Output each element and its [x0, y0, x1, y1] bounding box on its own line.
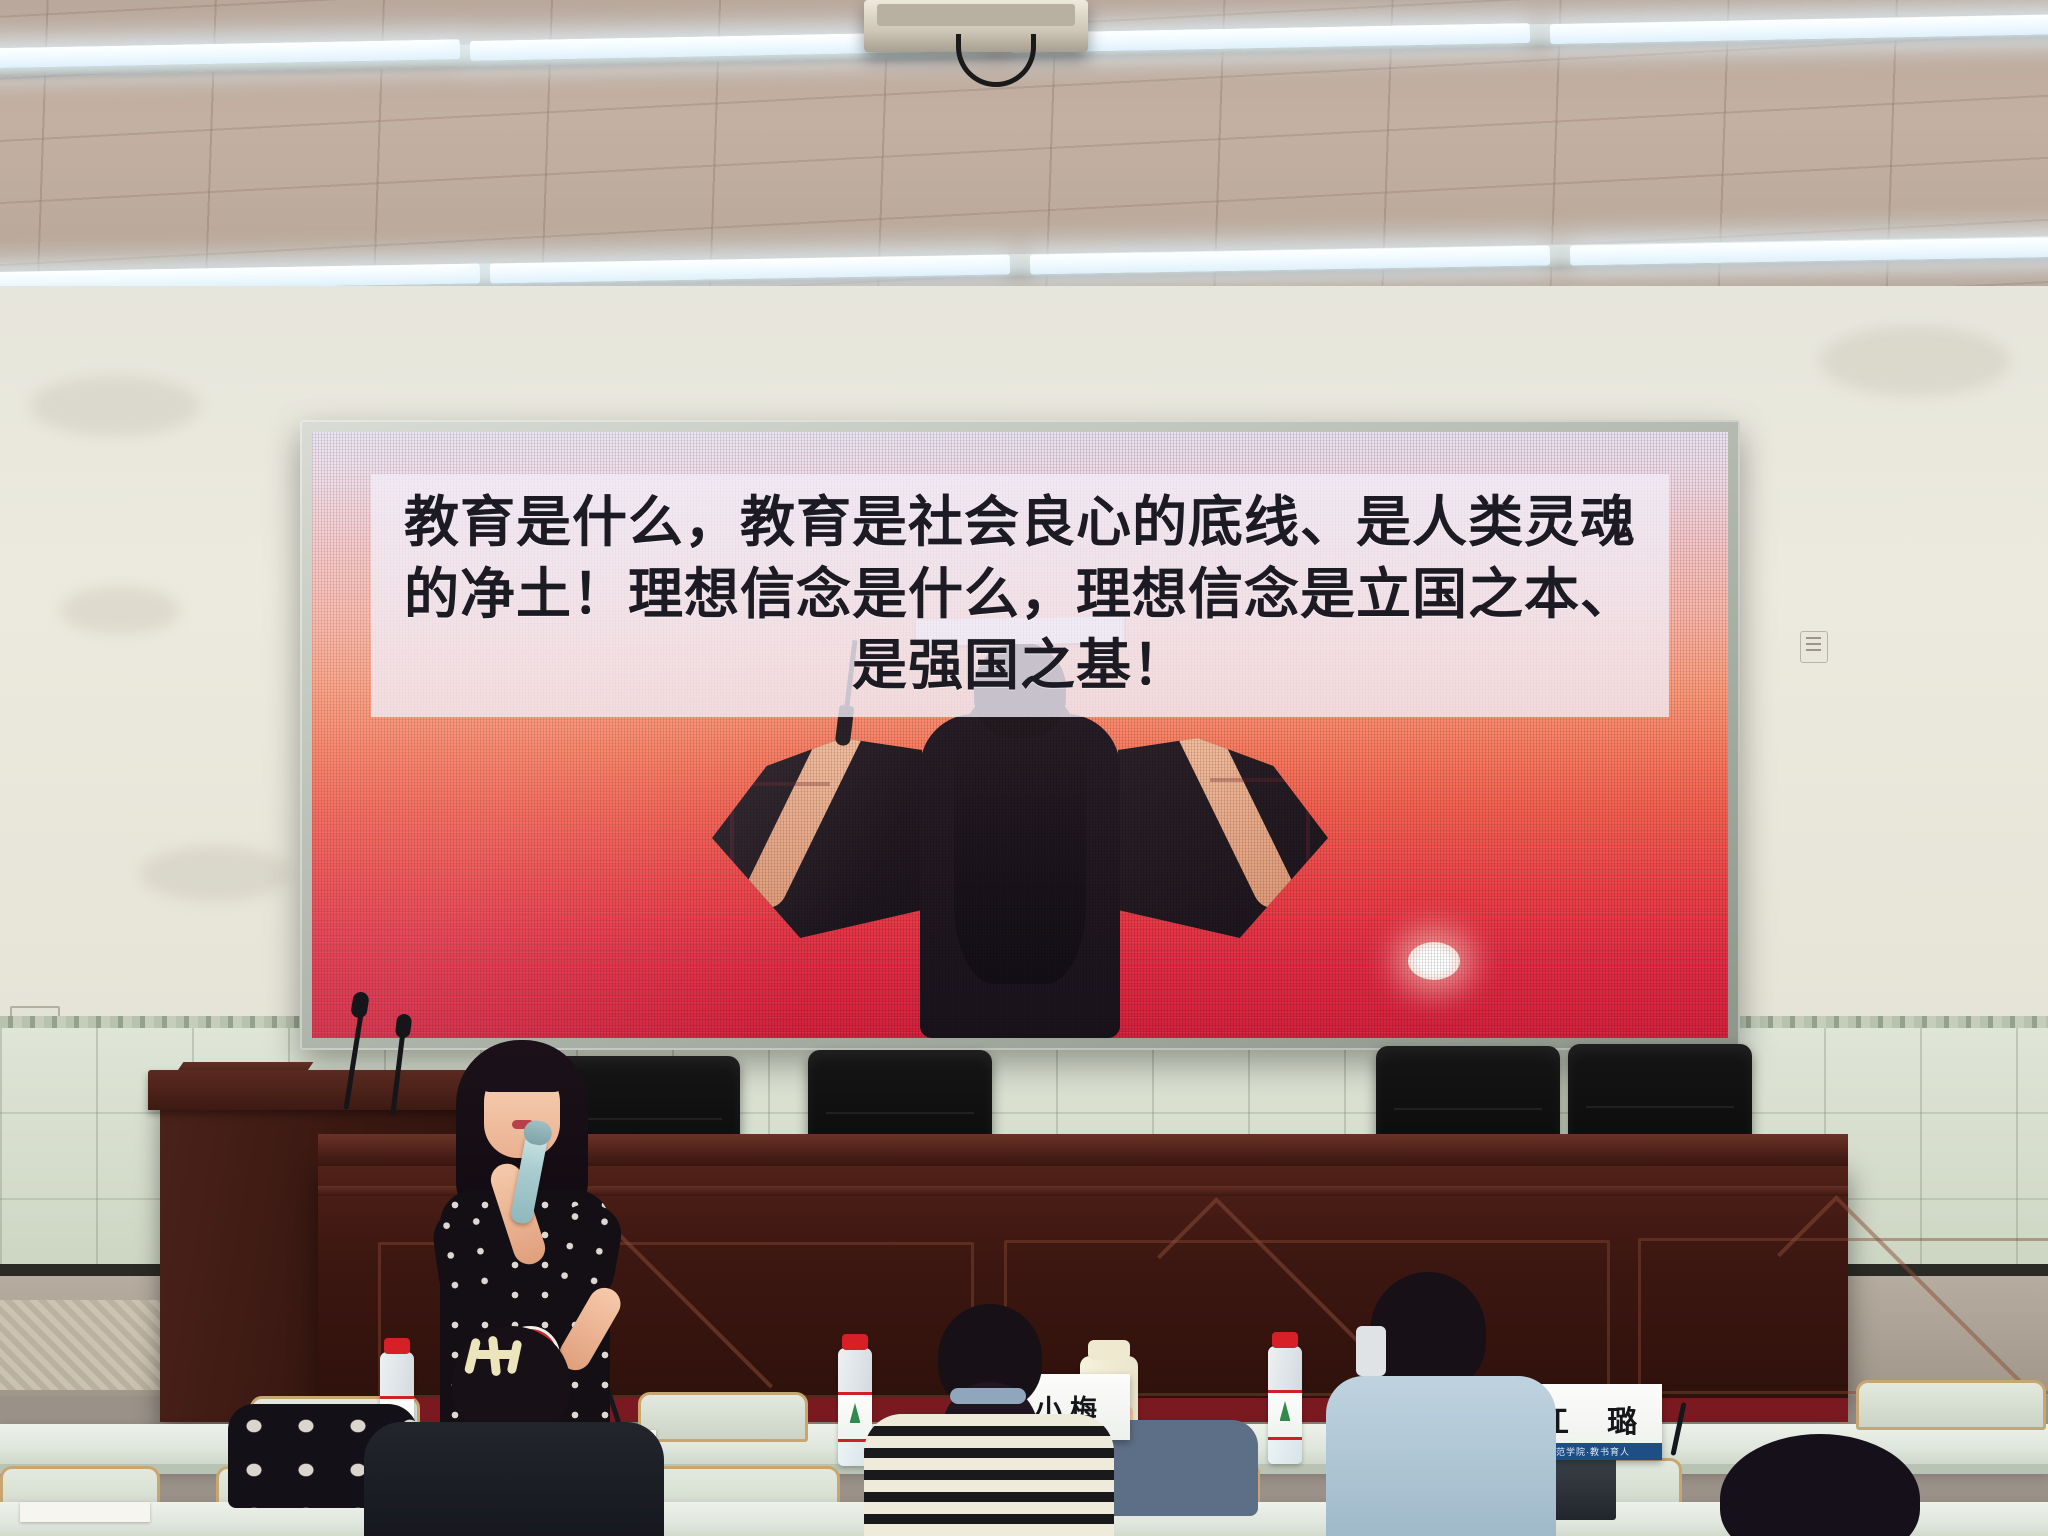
graduate-robe-pattern-right	[1210, 778, 1310, 866]
wall-socket-upper-right	[1800, 631, 1828, 663]
lecture-hall-photo: 教育是什么，教育是社会良心的底线、是人类灵魂 的净土！理想信念是什么，理想信念是…	[0, 0, 2048, 1536]
paper-sheet-2	[20, 1502, 150, 1522]
face-mask	[1356, 1326, 1386, 1376]
wall-mark-1	[30, 376, 200, 436]
wall-mark-2	[60, 586, 180, 634]
ceiling	[0, 0, 2048, 300]
slide-text-box: 教育是什么，教育是社会良心的底线、是人类灵魂 的净土！理想信念是什么，理想信念是…	[371, 474, 1668, 717]
graduate-robe-pattern-left	[730, 782, 830, 870]
audience-torso-left	[364, 1422, 664, 1536]
audience-striped-torso	[864, 1414, 1114, 1536]
audience-striped-shirt	[880, 1304, 1110, 1536]
audience-head-back-right	[1720, 1434, 1920, 1536]
audience-front-left	[392, 1326, 672, 1536]
bottle-cap-2	[842, 1334, 868, 1350]
presenter-bangs	[480, 1056, 564, 1092]
led-screen-bezel: 教育是什么，教育是社会良心的底线、是人类灵魂 的净土！理想信念是什么，理想信念是…	[300, 420, 1740, 1050]
slide-line-1: 教育是什么，教育是社会良心的底线、是人类灵魂	[387, 486, 1652, 558]
water-bottle-3[interactable]	[1268, 1346, 1302, 1464]
judge-front-right	[1320, 1272, 1580, 1536]
judge-torso	[1326, 1376, 1556, 1536]
slide-line-3: 是强国之基！	[387, 629, 1652, 701]
slide-line-2: 的净土！理想信念是什么，理想信念是立国之本、	[387, 558, 1652, 630]
projector-ports	[877, 4, 1074, 26]
wall-mark-4	[140, 846, 290, 901]
wall-mark-3	[1820, 326, 2010, 396]
led-screen[interactable]: 教育是什么，教育是社会良心的底线、是人类灵魂 的净土！理想信念是什么，理想信念是…	[312, 432, 1728, 1038]
slide-sun	[1408, 942, 1460, 980]
hair-clip-icon	[464, 1336, 534, 1378]
bottle-cap-3	[1272, 1332, 1298, 1348]
graduate-sleeve-right	[1118, 738, 1328, 938]
audience-back-right	[1700, 1434, 1980, 1536]
bottle-label-3	[1268, 1390, 1302, 1440]
seat-back-upper-3[interactable]	[1856, 1380, 2046, 1430]
judge-head	[1370, 1272, 1486, 1392]
hair-tie	[950, 1388, 1026, 1404]
graduate-sleeve-left	[712, 738, 922, 938]
